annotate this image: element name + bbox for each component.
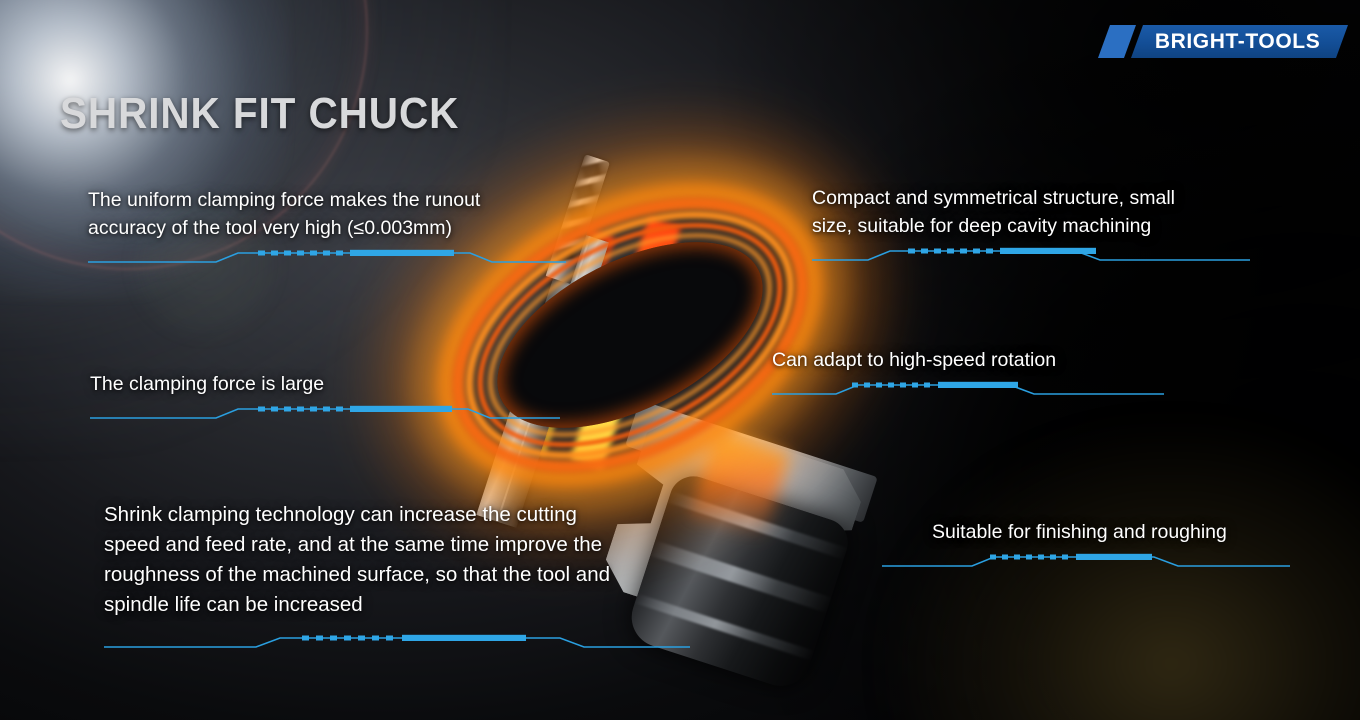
brand-logo[interactable]: BRIGHT-TOOLS [1104, 24, 1342, 58]
feature-text: Can adapt to high-speed rotation [772, 346, 1164, 374]
feature-underline-decoration [772, 381, 1164, 399]
feature-text: Shrink clamping technology can increase … [104, 500, 690, 620]
feature-uniform-clamping-force: The uniform clamping force makes the run… [88, 186, 566, 267]
feature-underline-decoration [104, 634, 690, 652]
feature-text: The clamping force is large [90, 370, 560, 398]
feature-compact-symmetrical-structure: Compact and symmetrical structure, small… [812, 184, 1250, 265]
logo-banner: BRIGHT-TOOLS [1131, 25, 1348, 58]
feature-underline-decoration [90, 405, 560, 423]
feature-underline-decoration [88, 249, 566, 267]
feature-shrink-clamping-technology: Shrink clamping technology can increase … [104, 500, 690, 652]
feature-finishing-and-roughing: Suitable for finishing and roughing [932, 518, 1290, 571]
page-title: SHRINK FIT CHUCK [60, 89, 459, 139]
feature-underline-decoration [932, 553, 1290, 571]
feature-text: Suitable for finishing and roughing [932, 518, 1290, 546]
logo-slash-icon [1098, 25, 1136, 58]
feature-clamping-force-large: The clamping force is large [90, 370, 560, 423]
feature-text: Compact and symmetrical structure, small… [812, 184, 1250, 240]
feature-underline-decoration [812, 247, 1250, 265]
logo-text: BRIGHT-TOOLS [1155, 29, 1320, 53]
slide-canvas: BRIGHT-TOOLS SHRINK FIT CHUCK The unifor… [0, 0, 1360, 720]
feature-high-speed-rotation: Can adapt to high-speed rotation [772, 346, 1164, 399]
feature-text: The uniform clamping force makes the run… [88, 186, 566, 242]
